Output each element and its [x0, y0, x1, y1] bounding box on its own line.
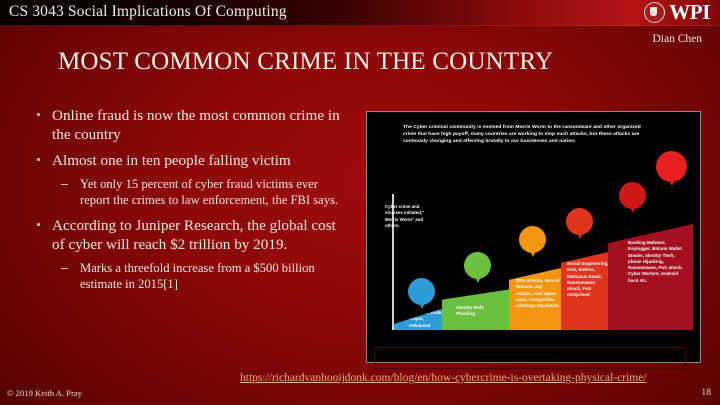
timeline-marker-1997: 1997: [408, 278, 435, 305]
marker-label: Present: [656, 151, 687, 182]
timeline-segment-2004: Identity theft, Phishing: [442, 286, 509, 330]
segment-label: DNS attacks, Rise of Botnets, Sql attack…: [516, 278, 560, 309]
wpi-wordmark: WPI: [669, 2, 710, 23]
infographic-caption: The Cyber criminal community is evolved …: [403, 124, 648, 146]
copyright-notice: © 2019 Keith A. Pray: [7, 388, 82, 398]
bullet-text: Yet only 15 percent of cyber fraud victi…: [80, 177, 338, 207]
bullet-item-3-sub-1: Marks a threefold increase from a $500 b…: [30, 261, 350, 292]
page-number: 18: [701, 387, 711, 398]
bullet-dot-icon: [37, 113, 40, 116]
timeline-origin-note: Cyber crime and virusses initiated," Mor…: [385, 204, 437, 230]
timeline-marker-2004: 2004: [464, 252, 491, 279]
marker-label: 2010: [566, 208, 593, 235]
marker-label: 1997: [408, 278, 435, 305]
bullet-list: Online fraud is now the most common crim…: [30, 106, 350, 300]
cybercrime-timeline-infographic[interactable]: The Cyber criminal community is evolved …: [366, 111, 701, 363]
segment-label: Identity theft, Phishing: [456, 305, 498, 318]
bullet-text: Online fraud is now the most common crim…: [52, 107, 340, 143]
bullet-dot-icon: [37, 158, 40, 161]
timeline-segment-2010: Social Engineering, DoS, Botlets, Malici…: [561, 252, 608, 330]
bullet-dash-icon: [61, 268, 68, 269]
hyperlink-placeholder-box[interactable]: [374, 347, 686, 369]
author-name: Dian Chen: [652, 33, 702, 45]
segment-label: Banking Malware, Keylogger, Bitcoin Wall…: [628, 240, 686, 284]
timeline-marker-2007: 2007: [519, 226, 546, 253]
wpi-logo: WPI: [644, 2, 710, 23]
wpi-seal-icon: [644, 2, 665, 23]
page-title: MOST COMMON CRIME IN THE COUNTRY: [58, 48, 553, 76]
bullet-item-3: According to Juniper Research, the globa…: [30, 216, 350, 254]
marker-label: 2004: [464, 252, 491, 279]
segment-label: malicious code, Trojan, Advanced worms: [409, 310, 445, 335]
bullet-item-2-sub-1: Yet only 15 percent of cyber fraud victi…: [30, 177, 350, 208]
slide-canvas: CS 3043 Social Implications Of Computing…: [0, 0, 720, 405]
timeline-segment-2007: DNS attacks, Rise of Botnets, Sql attack…: [509, 268, 561, 330]
bullet-item-2: Almost one in ten people falling victim: [30, 151, 350, 170]
timeline-marker-2013: 2013: [619, 182, 646, 209]
segment-label: Social Engineering, DoS, Botlets, Malici…: [567, 261, 609, 299]
bullet-dash-icon: [61, 184, 68, 185]
source-url-link[interactable]: https://richardvanhooijdonk.com/blog/en/…: [240, 372, 647, 384]
timeline-marker-present: Present: [656, 151, 687, 182]
course-title: CS 3043 Social Implications Of Computing: [9, 3, 287, 21]
marker-label: 2007: [519, 226, 546, 253]
bullet-item-1: Online fraud is now the most common crim…: [30, 106, 350, 144]
timeline-segment-2013: Banking Malware, Keylogger, Bitcoin Wall…: [608, 224, 693, 330]
bullet-text: Almost one in ten people falling victim: [52, 152, 291, 169]
timeline-marker-2010: 2010: [566, 208, 593, 235]
bullet-dot-icon: [37, 223, 40, 226]
bullet-text: Marks a threefold increase from a $500 b…: [80, 261, 315, 291]
bullet-text: According to Juniper Research, the globa…: [52, 217, 336, 253]
marker-label: 2013: [619, 182, 646, 209]
